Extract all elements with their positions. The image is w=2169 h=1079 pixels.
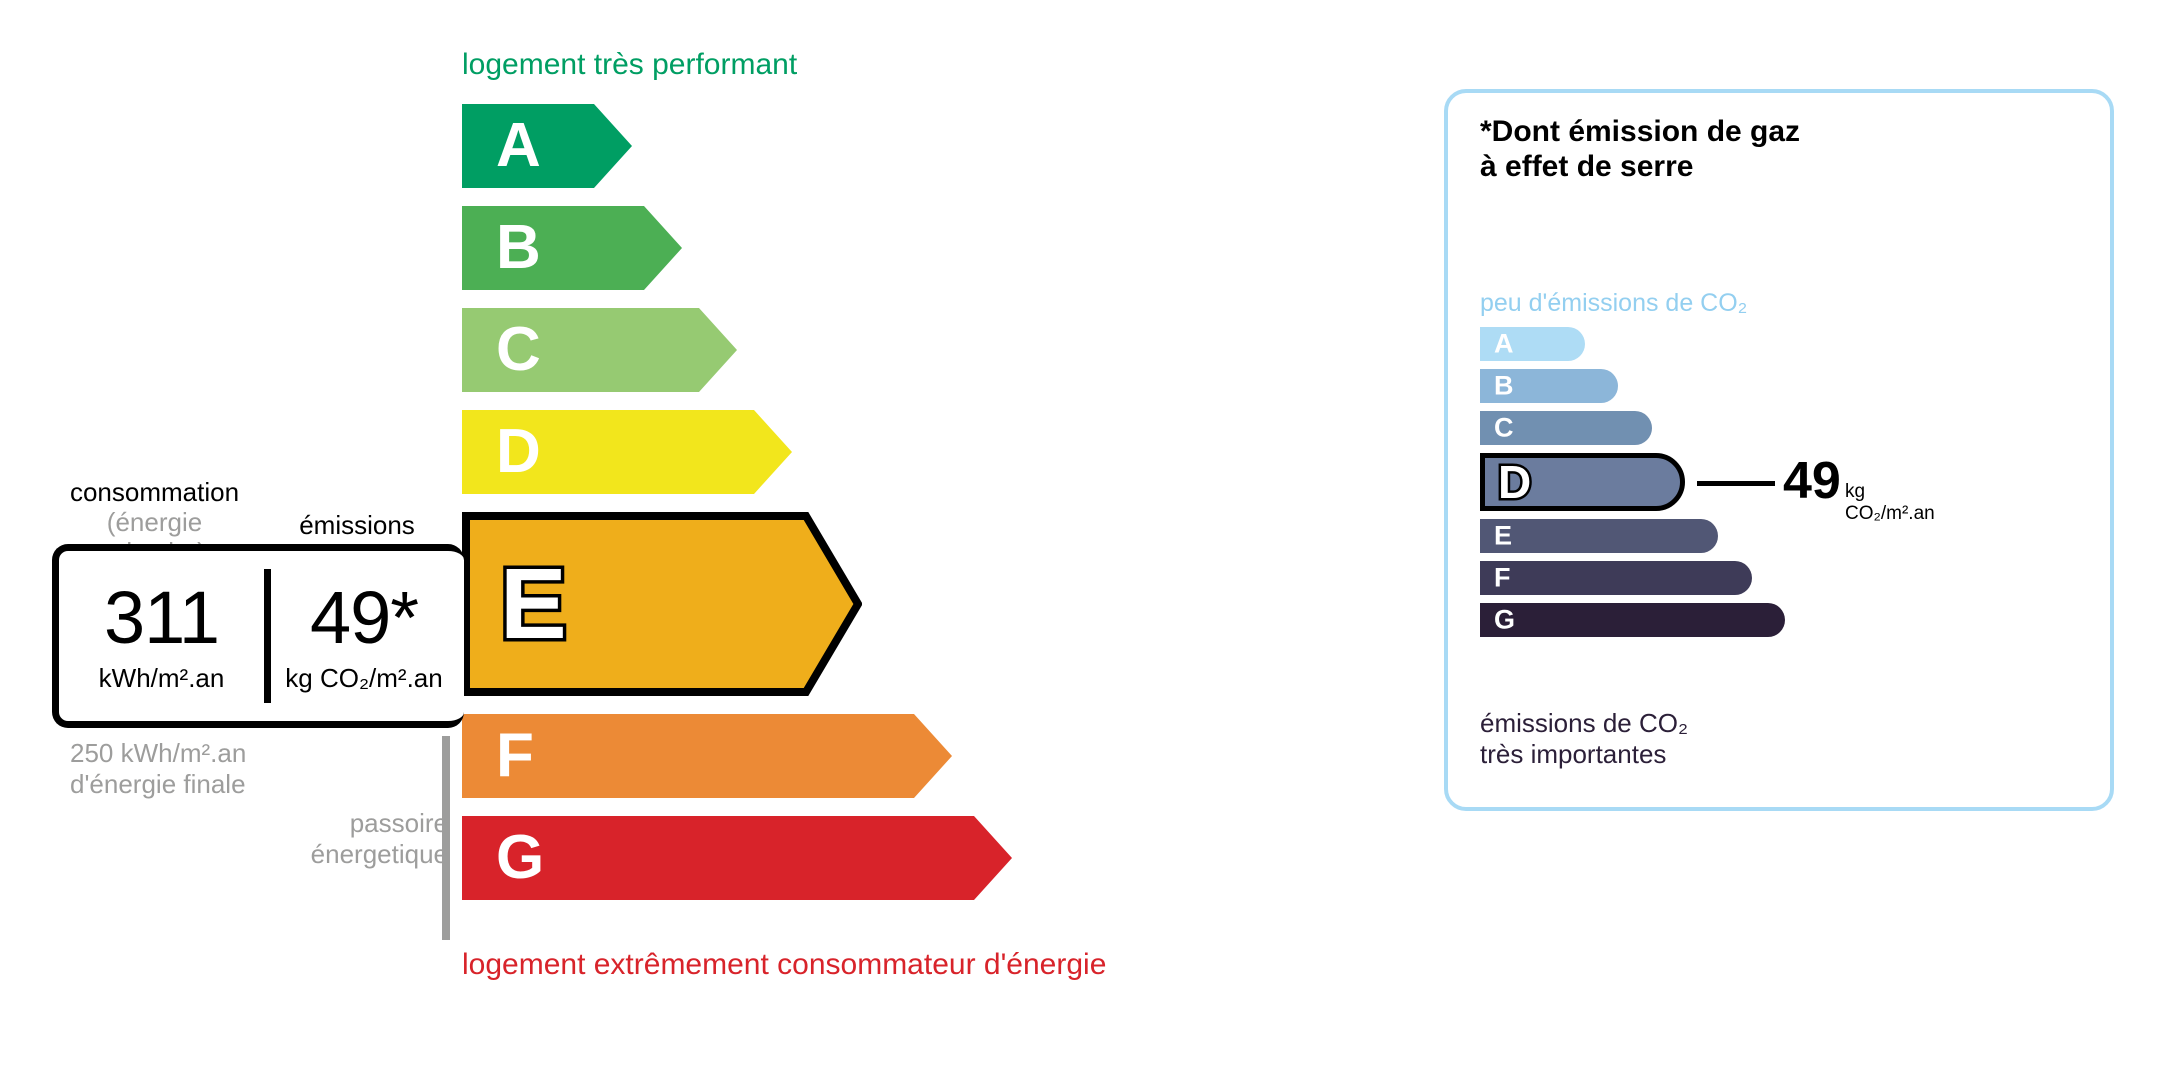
band-arrow-shape [462, 206, 682, 290]
co2-bottom-caption-line2: très importantes [1480, 739, 1688, 770]
final-energy-line2: d'énergie finale [70, 769, 246, 800]
co2-bar-fill [1480, 561, 1752, 595]
co2-bar-fill [1480, 369, 1618, 403]
passoire-line2: énergetique [278, 839, 448, 870]
consumption-unit: kWh/m².an [59, 665, 264, 691]
energy-top-caption: logement très performant [462, 48, 797, 82]
consumption-label-main: consommation [70, 477, 239, 507]
energy-performance-chart: logement très performant ABCDEFG logemen… [0, 0, 1400, 1079]
co2-bottom-caption-line1: émissions de CO₂ [1480, 708, 1688, 739]
co2-bar-fill [1480, 603, 1785, 637]
passoire-line1: passoire [278, 808, 448, 839]
consumption-value-cell: 311 kWh/m².an [59, 581, 264, 691]
co2-bar-fill [1480, 411, 1652, 445]
co2-bar-fill [1480, 327, 1585, 361]
co2-panel-title: *Dont émission de gaz à effet de serre [1480, 114, 1800, 185]
band-arrow-shape [462, 816, 1012, 900]
energy-bottom-caption: logement extrêmement consommateur d'éner… [462, 948, 1106, 982]
emissions-label: émissions [257, 510, 457, 541]
co2-bar-fill [1480, 519, 1718, 553]
co2-callout-leader-line [1697, 481, 1775, 486]
co2-callout-unit: kg CO₂/m².an [1845, 481, 1935, 525]
co2-title-line2: à effet de serre [1480, 149, 1800, 184]
co2-title-line1: *Dont émission de gaz [1480, 114, 1800, 149]
co2-callout-value: 49 [1783, 455, 1841, 507]
passoire-note: passoire énergetique [278, 808, 448, 870]
band-arrow-shape [462, 104, 632, 188]
co2-bottom-caption: émissions de CO₂ très importantes [1480, 708, 1688, 770]
emissions-value: 49* [264, 581, 464, 655]
value-box: 311 kWh/m².an 49* kg CO₂/m².an [52, 544, 464, 728]
co2-emissions-panel: *Dont émission de gaz à effet de serre p… [1444, 89, 2114, 811]
final-energy-note: 250 kWh/m².an d'énergie finale [70, 738, 246, 800]
band-arrow-shape [462, 410, 792, 494]
band-arrow-shape [462, 714, 952, 798]
band-arrow-shape [462, 308, 737, 392]
co2-bar-fill [1480, 453, 1685, 511]
consumption-value: 311 [59, 581, 264, 655]
band-arrow-shape [462, 512, 862, 696]
value-divider [264, 569, 271, 703]
emissions-unit: kg CO₂/m².an [264, 665, 464, 691]
co2-top-caption: peu d'émissions de CO₂ [1480, 289, 1747, 318]
final-energy-line1: 250 kWh/m².an [70, 738, 246, 769]
emissions-value-cell: 49* kg CO₂/m².an [264, 581, 464, 691]
